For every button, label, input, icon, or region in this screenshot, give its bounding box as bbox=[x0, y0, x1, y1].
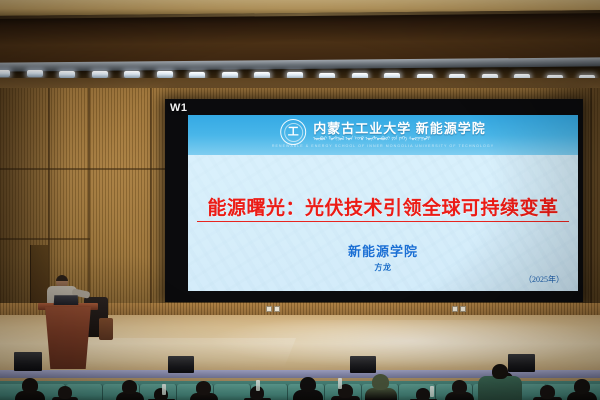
slide-header-band: 工 内蒙古工业大学 新能源学院 ᠦᠪᠦᠷ ᠮᠣᠩᠭᠣᠯ ᠤᠨ ᠠᠵᠤ ᠦᠢᠯᠡᠳ… bbox=[188, 115, 578, 155]
water-bottle bbox=[430, 386, 434, 397]
stage-monitor-speaker bbox=[14, 352, 42, 371]
university-seal-icon: 工 bbox=[280, 119, 306, 145]
university-seal-glyph: 工 bbox=[288, 127, 299, 138]
audience-head bbox=[416, 388, 430, 400]
stage-monitor-speaker bbox=[350, 356, 376, 373]
audience-head bbox=[58, 386, 72, 399]
ceiling-lamp bbox=[27, 70, 43, 77]
audience-head bbox=[492, 364, 508, 379]
stage-monitor-speaker bbox=[508, 354, 535, 372]
slide-year: （2025年） bbox=[524, 274, 564, 285]
institution-name-en: RENEWABLE & ENERGY SCHOOL OF INNER MONGO… bbox=[272, 144, 494, 148]
audience-head bbox=[540, 385, 555, 399]
stage-chair-arm bbox=[99, 318, 113, 340]
water-bottle bbox=[162, 384, 166, 395]
lecture-hall-scene: W1 工 内蒙古工业大学 新能源学院 ᠦᠪᠦᠷ ᠮᠣᠩᠭᠣᠯ ᠤᠨ ᠠᠵᠤ ᠦᠢ… bbox=[0, 0, 600, 400]
slide-presenter-name: 方龙 bbox=[188, 262, 578, 273]
screen-id-label: W1 bbox=[170, 102, 188, 114]
slide-title-rule bbox=[197, 221, 569, 222]
ceiling-lamp bbox=[0, 70, 10, 77]
wall-seam bbox=[88, 88, 90, 313]
audience-head bbox=[452, 380, 467, 394]
presentation-slide[interactable]: 工 内蒙古工业大学 新能源学院 ᠦᠪᠦᠷ ᠮᠣᠩᠭᠣᠯ ᠤᠨ ᠠᠵᠤ ᠦᠢᠯᠡᠳ… bbox=[188, 115, 578, 291]
institution-name-mn: ᠦᠪᠦᠷ ᠮᠣᠩᠭᠣᠯ ᠤᠨ ᠠᠵᠤ ᠦᠢᠯᠡᠳᠪᠦᠷᠢ ᠶᠢᠨ ᠶᠡᠬᠡ ᠰᠤ… bbox=[313, 136, 486, 143]
projection-screen[interactable]: W1 工 内蒙古工业大学 新能源学院 ᠦᠪᠦᠷ ᠮᠣᠩᠭᠣᠯ ᠤᠨ ᠠᠵᠤ ᠦᠢ… bbox=[165, 99, 583, 302]
slide-title: 能源曙光：光伏技术引领全球可持续变革 bbox=[188, 193, 578, 220]
wall-outlet[interactable] bbox=[274, 306, 280, 312]
wall-outlet[interactable] bbox=[460, 306, 466, 312]
lectern bbox=[42, 307, 94, 369]
stage-monitor-speaker bbox=[168, 356, 194, 373]
slide-header-content: 工 内蒙古工业大学 新能源学院 ᠦᠪᠦᠷ ᠮᠣᠩᠭᠣᠯ ᠤᠨ ᠠᠵᠤ ᠦᠢᠯᠡᠳ… bbox=[280, 119, 486, 145]
institution-name-cn: 内蒙古工业大学 新能源学院 bbox=[313, 122, 486, 136]
audience-head bbox=[300, 377, 316, 392]
audience-head bbox=[122, 380, 137, 394]
ceiling-lamp bbox=[59, 71, 75, 78]
audience-head bbox=[22, 378, 38, 393]
presenter-laptop bbox=[54, 295, 79, 305]
wall-outlet[interactable] bbox=[266, 306, 272, 312]
audience-head bbox=[372, 374, 389, 390]
water-bottle bbox=[256, 380, 260, 391]
audience-person-green-jacket bbox=[478, 376, 522, 400]
wall-outlet[interactable] bbox=[452, 306, 458, 312]
wall-seam bbox=[150, 88, 152, 313]
slide-subtitle: 新能源学院 bbox=[188, 241, 578, 260]
audience-head bbox=[196, 381, 211, 395]
slide-header-text: 内蒙古工业大学 新能源学院 ᠦᠪᠦᠷ ᠮᠣᠩᠭᠣᠯ ᠤᠨ ᠠᠵᠤ ᠦᠢᠯᠡᠳᠪᠦ… bbox=[313, 122, 486, 143]
audience-head bbox=[574, 379, 590, 394]
water-bottle bbox=[338, 378, 342, 389]
ceiling-lamp bbox=[92, 71, 108, 78]
